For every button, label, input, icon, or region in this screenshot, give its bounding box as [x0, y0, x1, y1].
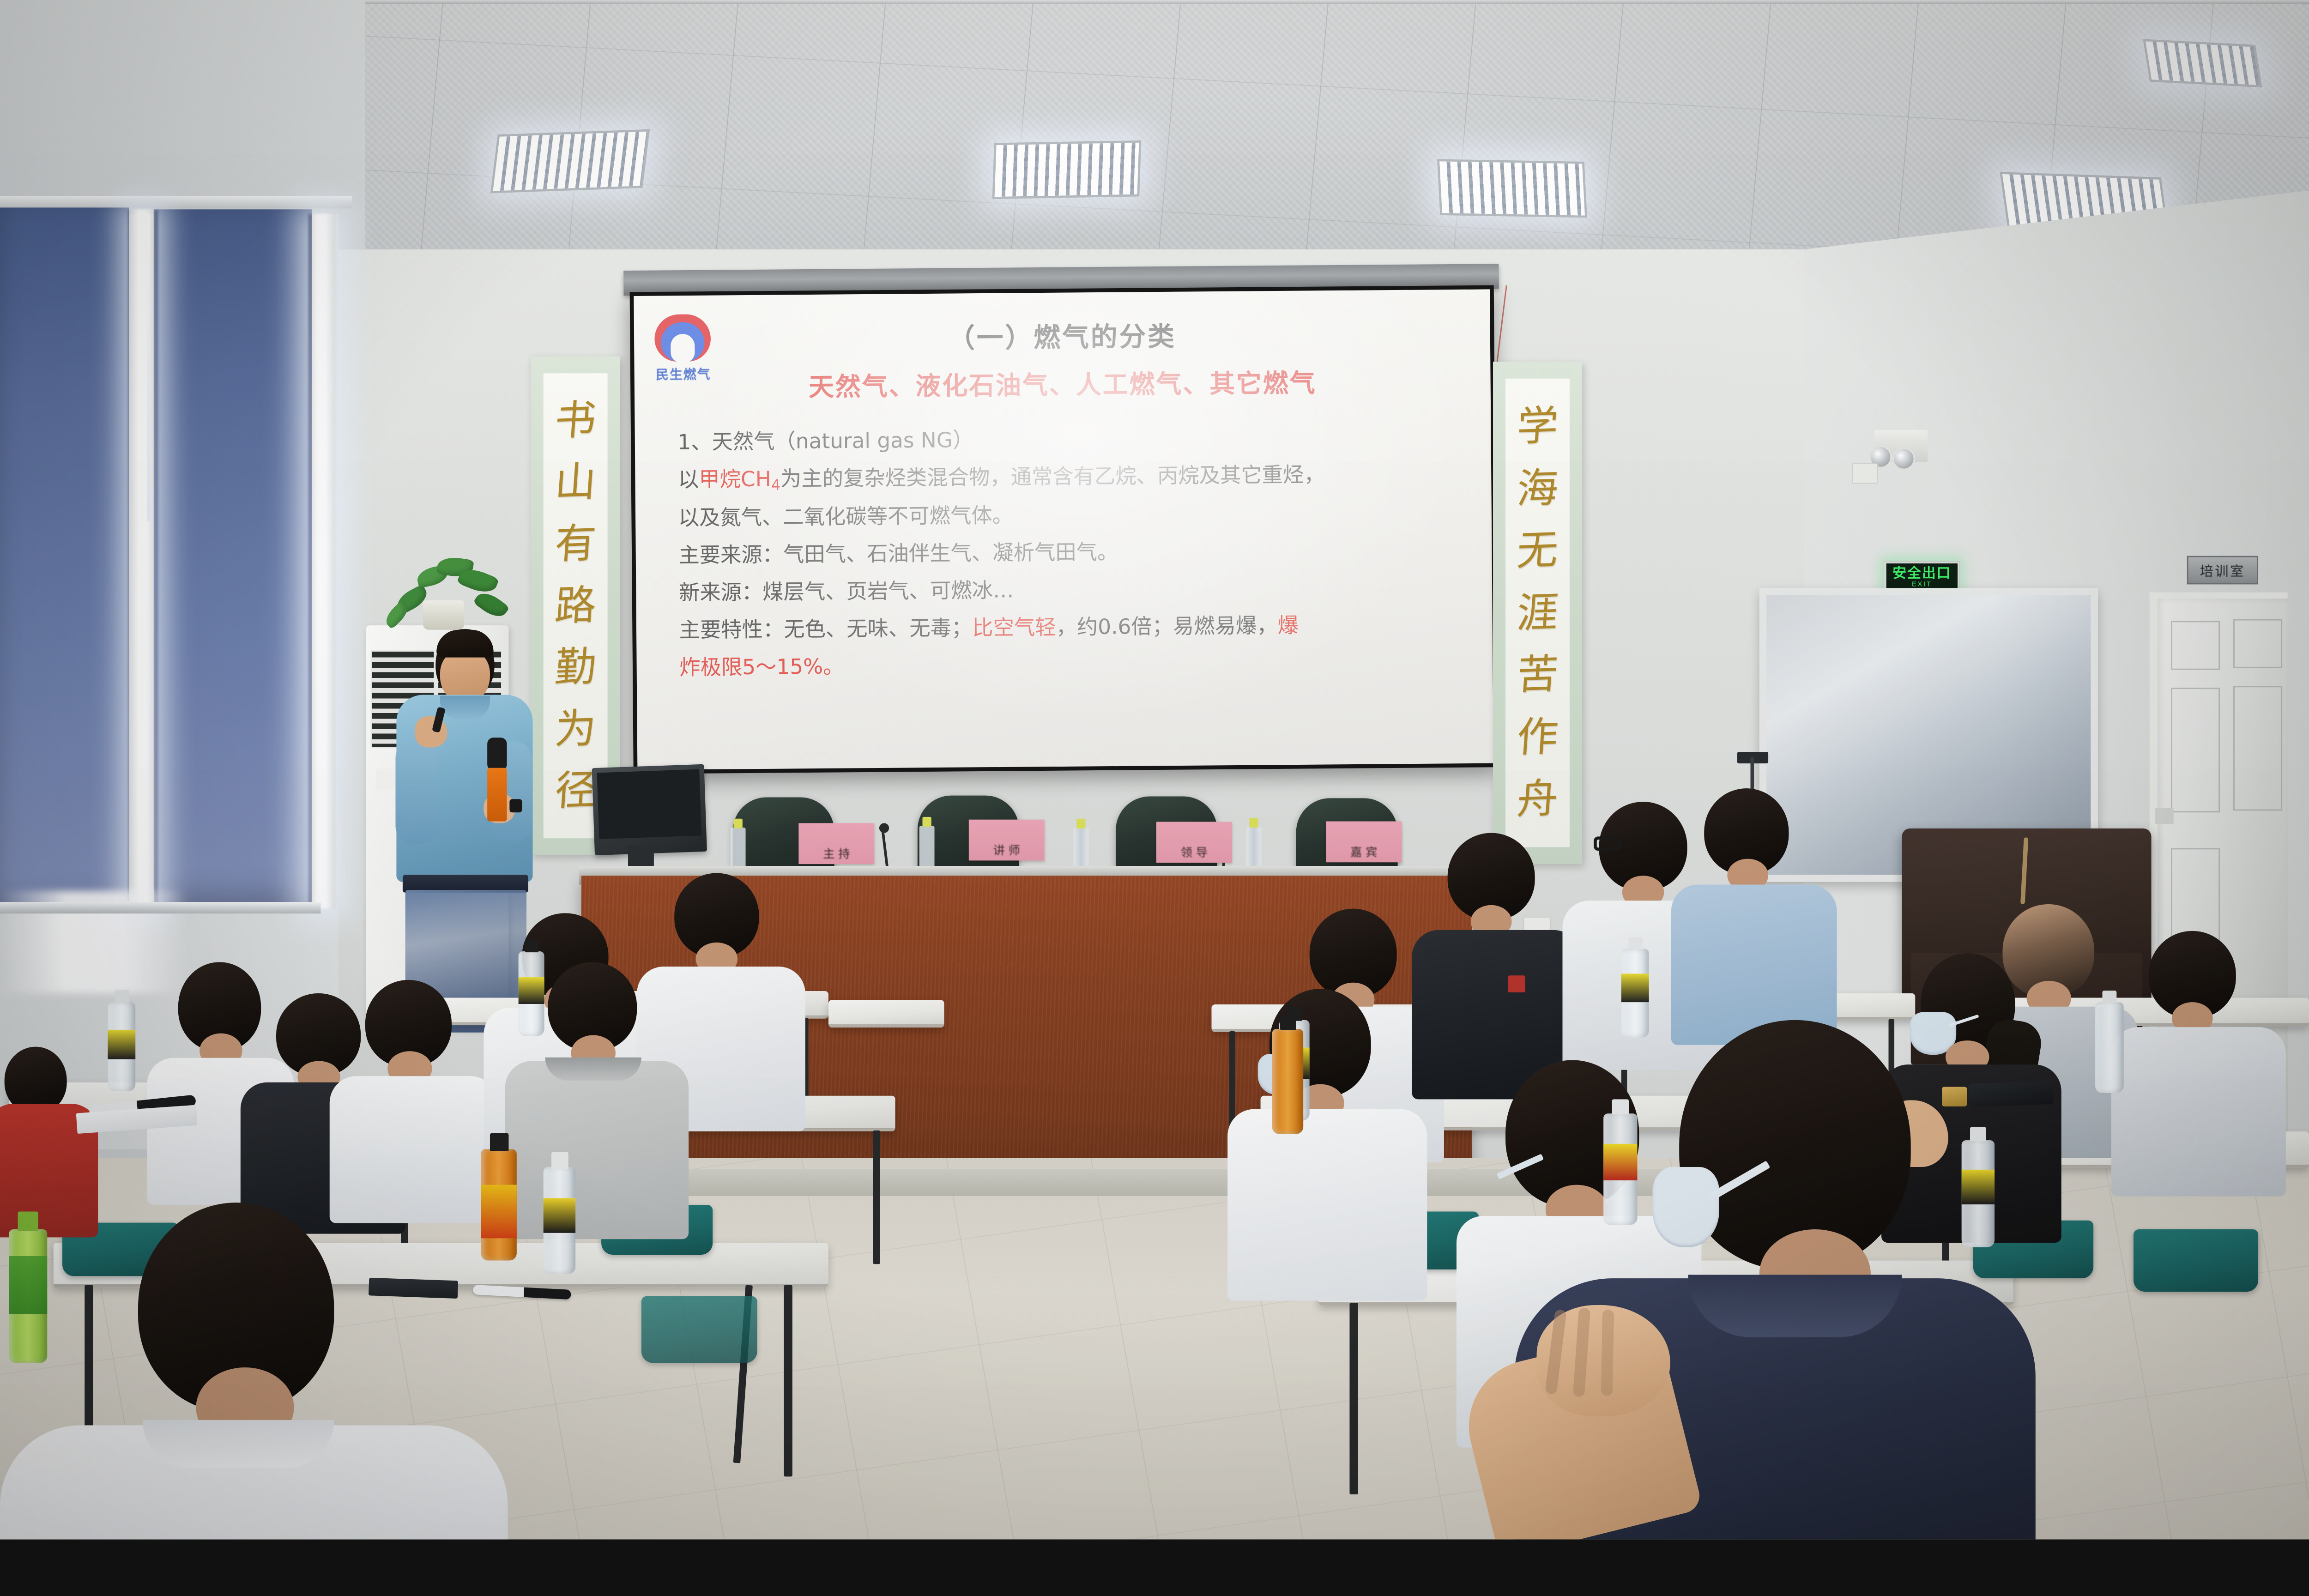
podium-microphone-head[interactable] [879, 823, 889, 833]
plant-leaf [473, 588, 510, 622]
blind-headrail[interactable] [0, 196, 352, 208]
room-plaque: 培训室 [2187, 556, 2258, 585]
window-light-gap-1 [128, 209, 158, 913]
bottle-label [9, 1256, 47, 1314]
bottle-label [481, 1185, 517, 1239]
window-blind-left[interactable] [0, 207, 129, 911]
classroom-training-scene: 民生燃气 （一）燃气的分类 天然气、液化石油气、人工燃气、其它燃气 1、天然气（… [0, 0, 2309, 1539]
door-handle[interactable] [2155, 808, 2174, 824]
calligraphy-scroll-right: 学 海 无 涯 苦 作 舟 [1493, 362, 1582, 864]
face-mask [1652, 1167, 1719, 1247]
potted-plant [370, 548, 513, 637]
slide-line-5: 新来源：煤层气、页岩气、可燃冰… [679, 570, 1466, 610]
scroll-char: 无 [1516, 531, 1559, 571]
microphone-head [487, 738, 507, 770]
light-grill-icon [1439, 161, 1585, 215]
highlight-explosion-limit: 炸极限5～15%。 [679, 654, 844, 680]
podium-nameplate: 嘉 宾 [1326, 822, 1402, 863]
window-blind-right[interactable] [154, 209, 312, 904]
attendee-shirt [505, 1061, 689, 1239]
scroll-char: 海 [1516, 468, 1559, 509]
scroll-char: 书 [554, 400, 598, 441]
attendee-foreground-white-shirt [9, 1203, 521, 1539]
podium-nameplate: 讲 师 [969, 820, 1045, 861]
podium-water-bottle [1246, 827, 1262, 870]
slide-line-1: 1、天然气（natural gas NG） [677, 419, 1464, 459]
monitor-screen [597, 769, 701, 839]
scroll-char: 作 [1516, 717, 1559, 757]
water-bottle-clear [544, 1167, 575, 1274]
bottle-cap [115, 990, 129, 1003]
attendee-collar [1688, 1275, 1902, 1337]
bottle-cap [2102, 991, 2116, 1003]
slide-line-3: 以及氮气、二氧化碳等不可燃气体。 [678, 495, 1465, 535]
attendee-collar [143, 1420, 334, 1468]
slide-subtitle: 天然气、液化石油气、人工燃气、其它燃气 [635, 362, 1491, 405]
notebook-on-desk [369, 1278, 458, 1299]
ceiling-light-panel-5 [2143, 39, 2262, 87]
water-bottle-clear [1621, 949, 1649, 1038]
presenter-left-arm [395, 740, 438, 844]
attendee-masked-white-shirt [1238, 989, 1416, 1292]
attendee-foreground-navy-polo [1403, 1020, 2036, 1540]
attendee-collar [545, 1058, 641, 1081]
bottle-body [1272, 1029, 1304, 1134]
bottle-label [544, 1198, 575, 1233]
green-tea-bottle [9, 1229, 47, 1363]
highlight-explosion-1: 爆 [1277, 613, 1299, 638]
highlight-methane: 甲烷CH [699, 467, 771, 492]
water-bottle-clear [108, 1002, 135, 1091]
bottle-label [1621, 973, 1649, 1002]
attendee-shirt [330, 1076, 497, 1223]
slide-line-4: 主要来源：气田气、石油伴生气、凝析气田气。 [678, 532, 1465, 573]
projection-screen: 民生燃气 （一）燃气的分类 天然气、液化石油气、人工燃气、其它燃气 1、天然气（… [630, 285, 1498, 774]
door-panel-top-right [2233, 619, 2282, 668]
slide-body: 1、天然气（natural gas NG） 以甲烷CH4为主的复杂烃类混合物，通… [677, 419, 1466, 689]
desk-leg [784, 1285, 792, 1477]
scroll-char: 山 [554, 462, 598, 502]
jacket-logo-patch [1508, 975, 1525, 992]
podium-water-bottle [919, 826, 935, 869]
podium-water-bottle [1073, 828, 1088, 871]
methane-subscript: 4 [771, 476, 781, 494]
scroll-char: 为 [554, 709, 598, 750]
desktop-monitor[interactable] [592, 764, 707, 855]
wall-switch[interactable] [1852, 463, 1878, 484]
scroll-char: 学 [1516, 406, 1559, 447]
bottle-cap [1612, 1099, 1629, 1114]
bottle-label [1962, 1170, 1995, 1204]
bottle-cap [525, 940, 538, 952]
light-grill-icon [2146, 41, 2260, 85]
scroll-char: 路 [554, 586, 598, 626]
window-sill [0, 902, 320, 913]
orange-drink-bottle [1272, 1029, 1304, 1134]
bottle-cap [1280, 1016, 1296, 1030]
smartphone-on-desk[interactable] [1968, 1081, 2054, 1107]
ceiling-light-panel-3 [1437, 159, 1587, 218]
bottle-label [1603, 1144, 1637, 1180]
door-panel-mid-left [2171, 688, 2220, 812]
bottle-cap [490, 1133, 509, 1151]
bottle-body [2095, 1002, 2124, 1093]
orange-drink-bottle [481, 1149, 517, 1260]
chair[interactable] [2134, 1229, 2258, 1292]
water-bottle-clear [1603, 1113, 1637, 1225]
attendee-blue-shirt [1679, 788, 1822, 1020]
door-panel-top-left [2171, 621, 2220, 670]
exit-sign-cn: 安全出口 [1892, 566, 1951, 580]
bottle-label [108, 1030, 135, 1059]
chair[interactable] [641, 1296, 757, 1363]
scroll-char: 涯 [1516, 592, 1559, 633]
water-bottle-clear [2095, 1002, 2124, 1093]
water-bottle-clear [519, 951, 544, 1036]
scroll-char: 勤 [554, 647, 598, 688]
exit-sign-en: EXIT [1912, 580, 1932, 588]
finger-separation [1601, 1309, 1614, 1396]
desk-leg [1349, 1303, 1358, 1494]
keys-on-desk [1942, 1087, 1967, 1106]
slide-line-6: 主要特性：无色、无味、无毒；比空气轻，约0.6倍；易燃易爆，爆 [679, 607, 1466, 647]
podium-nameplate: 领 导 [1156, 822, 1232, 863]
bottle-cap [1970, 1127, 1986, 1141]
plant-pot [423, 600, 464, 630]
presentation-slide: 民生燃气 （一）燃气的分类 天然气、液化石油气、人工燃气、其它燃气 1、天然气（… [634, 289, 1493, 770]
blind-pull-cord[interactable] [147, 214, 150, 521]
presenter-collar [440, 696, 490, 719]
wristwatch [509, 799, 522, 812]
slide-title: （一）燃气的分类 [634, 313, 1490, 358]
eyeglasses-icon [1594, 836, 1620, 851]
water-bottle-clear [1962, 1140, 1995, 1247]
attendee-white-shirt-2 [338, 980, 485, 1212]
scroll-paper: 学 海 无 涯 苦 作 舟 [1505, 379, 1570, 847]
microphone-body [487, 768, 507, 822]
light-grill-icon [995, 143, 1139, 197]
desk-leg [873, 1130, 880, 1264]
desk [828, 1000, 944, 1028]
emergency-lamp-icon [1892, 447, 1915, 470]
ceiling-light-panel-2 [992, 140, 1142, 199]
bottle-cap [18, 1211, 38, 1231]
window-light-gap-2 [308, 214, 335, 909]
door-panel-mid-right [2233, 686, 2282, 810]
slide-line-2: 以甲烷CH4为主的复杂烃类混合物，通常含有乙烷、丙烷及其它重烃， [678, 457, 1465, 498]
attendee-right-edge [2120, 931, 2272, 1180]
presenter-hair [436, 630, 493, 658]
bottle-cap [1628, 937, 1643, 949]
scroll-char: 有 [554, 524, 598, 564]
scroll-char: 舟 [1516, 779, 1559, 820]
ceiling-light-panel-1 [490, 129, 650, 193]
scroll-char: 苦 [1516, 655, 1559, 695]
attendee-shirt [1227, 1109, 1427, 1301]
highlight-lighter-than-air: 比空气轻 [972, 615, 1056, 640]
attendee-shirt [2111, 1027, 2286, 1197]
podium-water-bottle [731, 828, 746, 871]
bottle-cap [551, 1152, 568, 1169]
slide-line-7: 炸极限5～15%。 [679, 645, 1466, 685]
bottle-label [519, 977, 544, 1004]
light-grill-icon [493, 132, 647, 191]
scroll-char: 径 [554, 770, 598, 811]
podium-nameplate: 主 持 [798, 823, 874, 864]
